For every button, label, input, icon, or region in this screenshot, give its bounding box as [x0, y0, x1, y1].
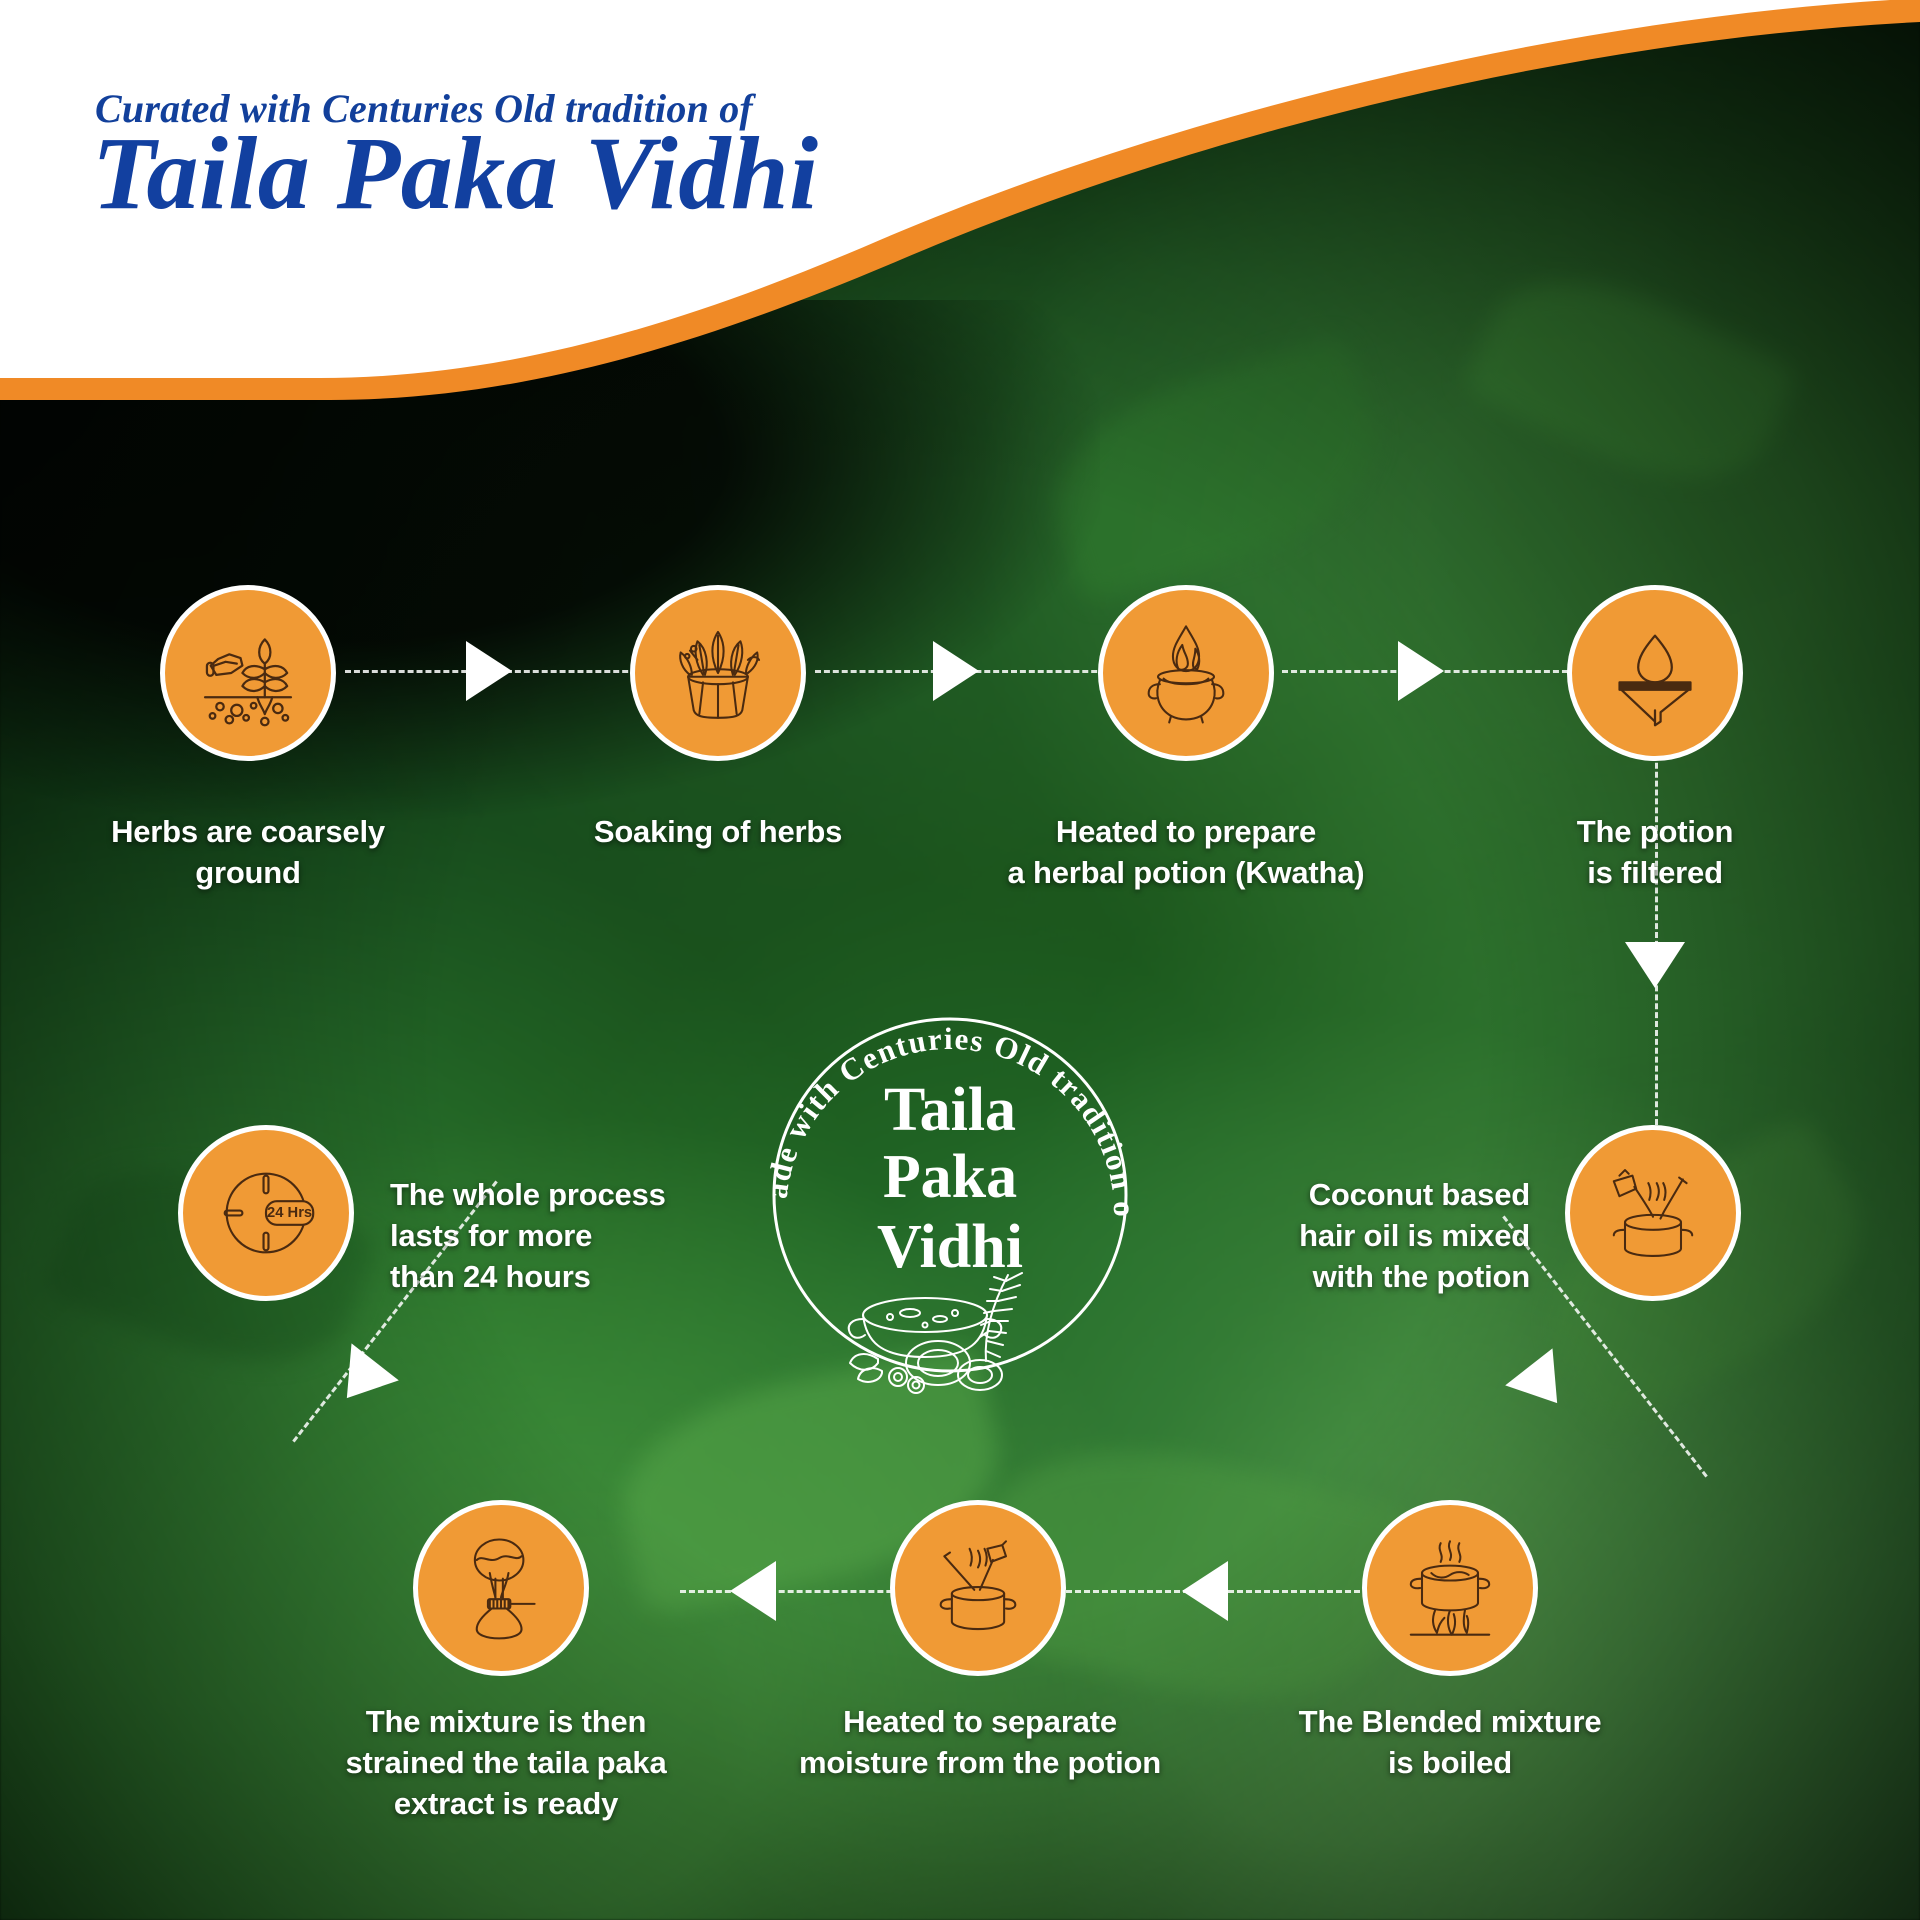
step-3-caption: Heated to prepare a herbal potion (Kwath…	[946, 812, 1426, 894]
clock-24hrs-icon: 24 Hrs	[207, 1154, 325, 1272]
pot-stirring-steam-icon	[922, 1532, 1034, 1644]
step-7-bubble[interactable]	[890, 1500, 1066, 1676]
step-1-caption: Herbs are coarsely ground	[48, 812, 448, 894]
step-4-caption-line-1: The potion	[1470, 812, 1840, 853]
step-7-caption-line-1: Heated to separate	[740, 1702, 1220, 1743]
page-title: Taila Paka Vidhi	[92, 122, 819, 226]
step-6-bubble[interactable]	[1362, 1500, 1538, 1676]
step-4-caption: The potion is filtered	[1470, 812, 1840, 894]
cauldron-with-flame-icon	[1130, 617, 1242, 729]
infographic-canvas: Curated with Centuries Old tradition of …	[0, 0, 1920, 1920]
step-6-caption: The Blended mixture is boiled	[1200, 1702, 1700, 1784]
clock-badge-text: 24 Hrs	[267, 1205, 312, 1221]
seal-line-2: Paka	[883, 1143, 1017, 1211]
step-8-caption-line-3: extract is ready	[256, 1784, 756, 1825]
step-1-caption-line-2: ground	[48, 853, 448, 894]
seal-line-1: Taila	[884, 1076, 1016, 1144]
step-7-caption-line-2: moisture from the potion	[740, 1743, 1220, 1784]
step-8-bubble[interactable]	[413, 1500, 589, 1676]
step-5-bubble[interactable]	[1565, 1125, 1741, 1301]
hand-sowing-seed-icon	[192, 617, 304, 729]
boiling-pot-on-flame-icon	[1394, 1532, 1506, 1644]
connector-4-5	[1655, 745, 1658, 1125]
step-1-caption-line-1: Herbs are coarsely	[48, 812, 448, 853]
step-6-caption-line-1: The Blended mixture	[1200, 1702, 1700, 1743]
step-2-caption-line-1: Soaking of herbs	[498, 812, 938, 853]
step-4-bubble[interactable]	[1567, 585, 1743, 761]
seal-line-3: Vidhi	[877, 1213, 1023, 1281]
mortar-with-herbs-icon	[662, 617, 774, 729]
step-8-caption-line-2: strained the taila paka	[256, 1743, 756, 1784]
step-2-bubble[interactable]	[630, 585, 806, 761]
step-4-caption-line-2: is filtered	[1470, 853, 1840, 894]
step-3-caption-line-1: Heated to prepare	[946, 812, 1426, 853]
arrow-4-5	[1625, 942, 1685, 988]
pot-pouring-oil-icon	[1597, 1157, 1709, 1269]
header-banner: Curated with Centuries Old tradition of …	[0, 0, 1920, 420]
arrow-6-7	[1182, 1561, 1228, 1621]
step-7-caption: Heated to separate moisture from the pot…	[740, 1702, 1220, 1784]
step-8-caption-line-1: The mixture is then	[256, 1702, 756, 1743]
step-2-caption: Soaking of herbs	[498, 812, 938, 853]
step-8-caption: The mixture is then strained the taila p…	[256, 1702, 756, 1825]
arrow-7-8	[730, 1561, 776, 1621]
step-6-caption-line-2: is boiled	[1200, 1743, 1700, 1784]
step-3-caption-line-2: a herbal potion (Kwatha)	[946, 853, 1426, 894]
step-3-bubble[interactable]	[1098, 585, 1274, 761]
strainer-flask-icon	[445, 1532, 557, 1644]
step-1-bubble[interactable]	[160, 585, 336, 761]
arrow-2-3	[933, 641, 979, 701]
brand-seal: Made with Centuries Old tradition of Tai…	[740, 985, 1160, 1405]
step-9-bubble[interactable]: 24 Hrs	[178, 1125, 354, 1301]
arrow-1-2	[466, 641, 512, 701]
bowl-with-herbs-sketch	[849, 1273, 1022, 1393]
arrow-3-4	[1398, 641, 1444, 701]
funnel-filter-icon	[1599, 617, 1711, 729]
